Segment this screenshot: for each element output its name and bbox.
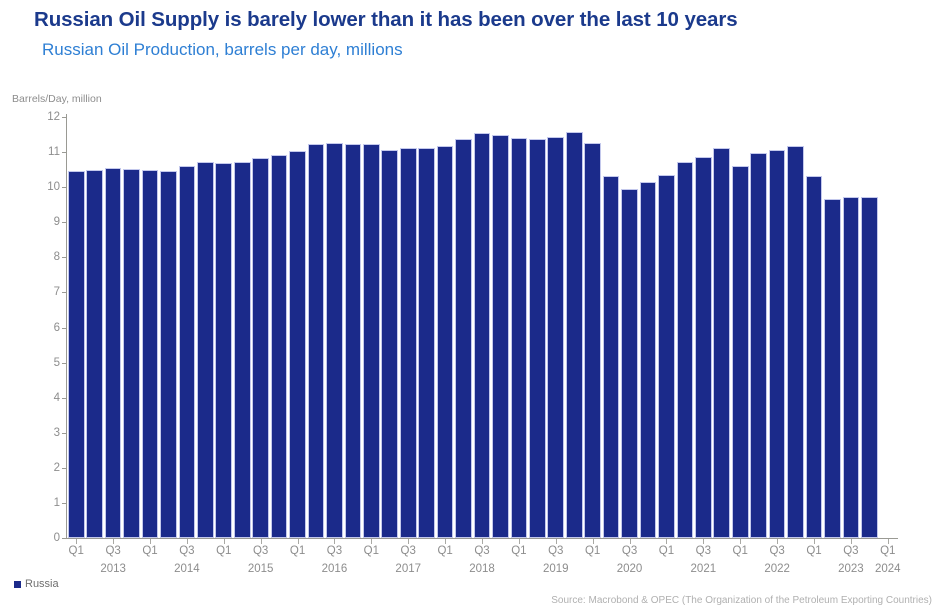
y-axis-tick-label: 3: [54, 427, 60, 439]
x-axis-tick-label: Q1: [806, 545, 821, 557]
y-axis-tick-mark: [62, 433, 66, 434]
bar: [400, 148, 417, 538]
y-axis-tick-mark: [62, 152, 66, 153]
bar: [123, 169, 140, 538]
x-axis-year-label: 2016: [322, 563, 348, 575]
y-axis-tick-label: 12: [47, 111, 60, 123]
bar: [234, 162, 251, 538]
legend-swatch-russia: [14, 581, 21, 588]
x-axis-tick-label: Q3: [769, 545, 784, 557]
y-axis-tick-label: 7: [54, 286, 60, 298]
bar: [289, 151, 306, 538]
x-axis-tick-mark: [76, 539, 77, 544]
x-axis-year-label: 2015: [248, 563, 274, 575]
x-axis-year-label: 2022: [764, 563, 790, 575]
bar: [677, 162, 694, 538]
x-axis-tick-mark: [261, 539, 262, 544]
bar: [197, 162, 214, 538]
bar: [713, 148, 730, 538]
y-axis-tick-mark: [62, 538, 66, 539]
y-axis-tick-label: 9: [54, 216, 60, 228]
bar: [455, 139, 472, 538]
y-axis-tick-label: 5: [54, 357, 60, 369]
x-axis-tick-label: Q3: [843, 545, 858, 557]
x-axis-tick-mark: [814, 539, 815, 544]
bar: [381, 150, 398, 538]
y-axis-tick-mark: [62, 363, 66, 364]
bar: [769, 150, 786, 538]
x-axis-tick-label: Q3: [327, 545, 342, 557]
bar: [695, 157, 712, 538]
x-axis-tick-label: Q1: [216, 545, 231, 557]
x-axis-year-label: 2024: [875, 563, 901, 575]
bar: [824, 199, 841, 538]
bar: [843, 197, 860, 538]
bar: [326, 143, 343, 538]
bar: [511, 138, 528, 538]
bar: [806, 176, 823, 538]
y-axis-tick-mark: [62, 187, 66, 188]
x-axis-tick-mark: [630, 539, 631, 544]
y-axis-tick-mark: [62, 398, 66, 399]
source-note: Source: Macrobond & OPEC (The Organizati…: [551, 595, 932, 606]
y-axis-tick-mark: [62, 292, 66, 293]
x-axis-year-label: 2021: [691, 563, 717, 575]
bar: [603, 176, 620, 538]
x-axis-tick-label: Q3: [253, 545, 268, 557]
bar: [474, 133, 491, 538]
bar: [621, 189, 638, 538]
x-axis-tick-mark: [666, 539, 667, 544]
bar: [179, 166, 196, 538]
x-axis-tick-label: Q1: [142, 545, 157, 557]
bar: [418, 148, 435, 538]
bar: [363, 144, 380, 538]
chart-title: Russian Oil Supply is barely lower than …: [34, 8, 738, 32]
bar: [547, 137, 564, 538]
y-axis-tick-label: 2: [54, 462, 60, 474]
x-axis-year-label: 2013: [100, 563, 126, 575]
bar: [658, 175, 675, 538]
x-axis-tick-label: Q3: [401, 545, 416, 557]
x-axis-tick-mark: [482, 539, 483, 544]
bar: [437, 146, 454, 538]
y-axis-tick-mark: [62, 503, 66, 504]
x-axis-tick-label: Q3: [548, 545, 563, 557]
x-axis-tick-label: Q1: [733, 545, 748, 557]
x-axis-tick-mark: [703, 539, 704, 544]
y-axis-tick-mark: [62, 222, 66, 223]
x-axis-tick-label: Q3: [622, 545, 637, 557]
x-axis-tick-mark: [556, 539, 557, 544]
x-axis-tick-label: Q1: [511, 545, 526, 557]
bar: [105, 168, 122, 538]
x-axis-tick-mark: [740, 539, 741, 544]
chart-subtitle: Russian Oil Production, barrels per day,…: [42, 40, 403, 60]
x-axis-tick-mark: [298, 539, 299, 544]
legend: Russia: [14, 578, 59, 590]
x-axis-tick-mark: [113, 539, 114, 544]
bar: [142, 170, 159, 538]
x-axis-tick-mark: [150, 539, 151, 544]
y-axis-tick-mark: [62, 328, 66, 329]
x-axis-tick-label: Q1: [659, 545, 674, 557]
y-axis-tick-mark: [62, 257, 66, 258]
x-axis-year-label: 2020: [617, 563, 643, 575]
bar: [345, 144, 362, 538]
bar: [86, 170, 103, 538]
x-axis-tick-label: Q3: [474, 545, 489, 557]
y-axis-tick-labels: 0123456789101112: [0, 0, 60, 615]
x-axis-tick-mark: [408, 539, 409, 544]
x-axis-tick-label: Q1: [437, 545, 452, 557]
bar: [215, 163, 232, 538]
x-axis-tick-mark: [371, 539, 372, 544]
bar: [529, 139, 546, 538]
bar: [566, 132, 583, 538]
x-axis-tick-label: Q3: [179, 545, 194, 557]
y-axis-tick-label: 10: [47, 181, 60, 193]
x-axis-year-label: 2023: [838, 563, 864, 575]
x-axis-tick-label: Q3: [105, 545, 120, 557]
x-axis-tick-label: Q1: [290, 545, 305, 557]
x-axis-tick-mark: [445, 539, 446, 544]
x-axis-year-label: 2019: [543, 563, 569, 575]
plot-area: [67, 117, 897, 538]
x-axis-tick-mark: [334, 539, 335, 544]
bar: [271, 155, 288, 538]
x-axis-tick-label: Q1: [585, 545, 600, 557]
y-axis-tick-label: 11: [48, 146, 60, 158]
y-axis-tick-mark: [62, 468, 66, 469]
x-axis-year-label: 2018: [469, 563, 495, 575]
bar: [640, 182, 657, 538]
legend-label-russia: Russia: [25, 578, 59, 590]
bar: [861, 197, 878, 538]
x-axis-tick-label: Q1: [69, 545, 84, 557]
x-axis-year-label: 2014: [174, 563, 200, 575]
x-axis-tick-mark: [187, 539, 188, 544]
y-axis-tick-label: 4: [54, 392, 60, 404]
bar: [68, 171, 85, 538]
y-axis-tick-mark: [62, 117, 66, 118]
x-axis-tick-label: Q1: [364, 545, 379, 557]
y-axis-tick-label: 1: [54, 497, 60, 509]
x-axis-tick-mark: [519, 539, 520, 544]
y-axis-tick-label: 0: [54, 532, 60, 544]
bar: [732, 166, 749, 538]
x-axis-tick-mark: [851, 539, 852, 544]
x-axis-tick-label: Q3: [696, 545, 711, 557]
x-axis-tick-mark: [888, 539, 889, 544]
bar: [252, 158, 269, 538]
bar: [308, 144, 325, 538]
bar: [160, 171, 177, 538]
y-axis-tick-label: 6: [54, 322, 60, 334]
x-axis-tick-mark: [224, 539, 225, 544]
bar: [750, 153, 767, 538]
bar: [492, 135, 509, 538]
x-axis-year-label: 2017: [395, 563, 421, 575]
x-axis-tick-label: Q1: [880, 545, 895, 557]
bar: [787, 146, 804, 538]
bar: [584, 143, 601, 538]
y-axis-tick-label: 8: [54, 251, 60, 263]
x-axis-tick-mark: [593, 539, 594, 544]
x-axis-tick-mark: [777, 539, 778, 544]
